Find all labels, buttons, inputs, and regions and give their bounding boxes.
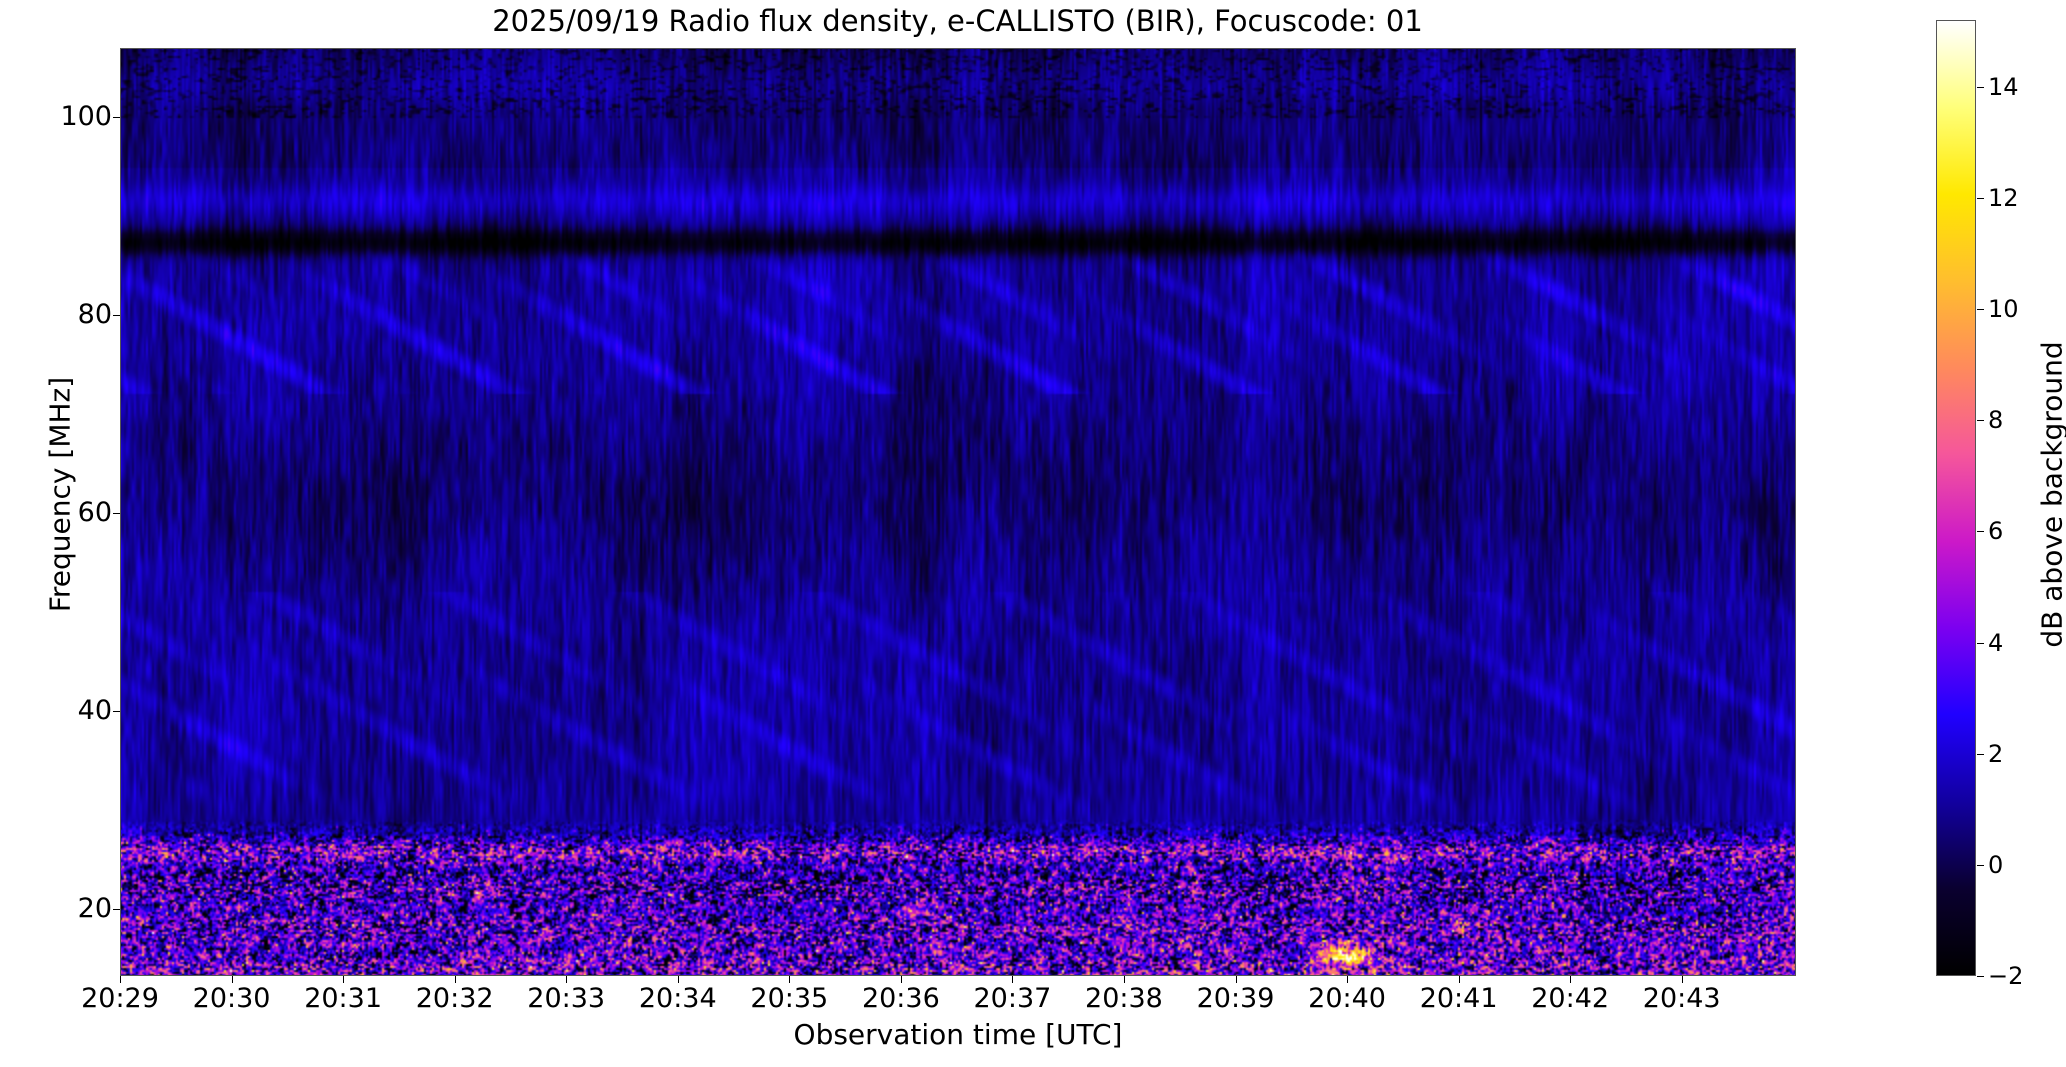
colorbar-tick-label: −2 (1988, 964, 2023, 988)
colorbar-tick-mark (1977, 198, 1984, 199)
x-tick-label: 20:42 (1531, 984, 1609, 1014)
figure-title: 2025/09/19 Radio flux density, e-CALLIST… (0, 4, 1915, 38)
y-tick-label: 100 (60, 103, 112, 130)
colorbar-tick-mark (1977, 976, 1984, 977)
colorbar-tick-label: 14 (1988, 75, 2019, 99)
x-tick-mark (343, 976, 344, 983)
x-tick-mark (566, 976, 567, 983)
spectrogram-figure: 2025/09/19 Radio flux density, e-CALLIST… (0, 0, 2066, 1067)
x-tick-label: 20:29 (81, 984, 159, 1014)
colorbar-tick-label: 10 (1988, 297, 2019, 321)
spectrogram-canvas (120, 48, 1796, 976)
y-tick-mark (113, 711, 120, 712)
colorbar-label: dB above background (2036, 315, 2066, 675)
x-tick-mark (455, 976, 456, 983)
colorbar-tick-label: 2 (1988, 742, 2003, 766)
x-tick-mark (901, 976, 902, 983)
y-tick-label: 80 (78, 301, 112, 328)
x-tick-label: 20:33 (527, 984, 605, 1014)
x-tick-mark (120, 976, 121, 983)
x-tick-label: 20:43 (1643, 984, 1721, 1014)
x-tick-mark (789, 976, 790, 983)
colorbar-tick-label: 12 (1988, 186, 2019, 210)
x-tick-label: 20:38 (1085, 984, 1163, 1014)
colorbar-gradient (1937, 21, 1975, 975)
x-tick-mark (1682, 976, 1683, 983)
y-tick-mark (113, 117, 120, 118)
y-tick-mark (113, 909, 120, 910)
x-tick-label: 20:36 (862, 984, 940, 1014)
x-tick-mark (1012, 976, 1013, 983)
colorbar-tick-mark (1977, 754, 1984, 755)
x-tick-label: 20:37 (973, 984, 1051, 1014)
colorbar-tick-label: 4 (1988, 631, 2003, 655)
colorbar (1936, 20, 1976, 976)
y-tick-label: 60 (78, 499, 112, 526)
x-tick-label: 20:41 (1420, 984, 1498, 1014)
x-tick-mark (1347, 976, 1348, 983)
x-tick-label: 20:34 (639, 984, 717, 1014)
colorbar-tick-mark (1977, 531, 1984, 532)
x-tick-label: 20:39 (1197, 984, 1275, 1014)
x-tick-label: 20:35 (750, 984, 828, 1014)
y-tick-label: 20 (78, 895, 112, 922)
x-tick-label: 20:30 (193, 984, 271, 1014)
x-tick-label: 20:40 (1308, 984, 1386, 1014)
colorbar-tick-mark (1977, 420, 1984, 421)
x-tick-mark (1570, 976, 1571, 983)
x-tick-mark (1124, 976, 1125, 983)
colorbar-tick-mark (1977, 865, 1984, 866)
y-tick-mark (113, 315, 120, 316)
colorbar-tick-label: 8 (1988, 408, 2003, 432)
x-tick-mark (1236, 976, 1237, 983)
x-tick-label: 20:31 (304, 984, 382, 1014)
colorbar-tick-mark (1977, 309, 1984, 310)
x-tick-label: 20:32 (416, 984, 494, 1014)
x-tick-mark (1459, 976, 1460, 983)
spectrogram-image (120, 48, 1796, 976)
colorbar-tick-label: 0 (1988, 853, 2003, 877)
colorbar-tick-mark (1977, 643, 1984, 644)
y-axis-label: Frequency [MHz] (44, 315, 77, 675)
colorbar-tick-mark (1977, 87, 1984, 88)
x-axis-label: Observation time [UTC] (120, 1018, 1796, 1051)
colorbar-tick-label: 6 (1988, 519, 2003, 543)
y-tick-mark (113, 513, 120, 514)
y-tick-label: 40 (78, 697, 112, 724)
x-tick-mark (678, 976, 679, 983)
x-tick-mark (232, 976, 233, 983)
